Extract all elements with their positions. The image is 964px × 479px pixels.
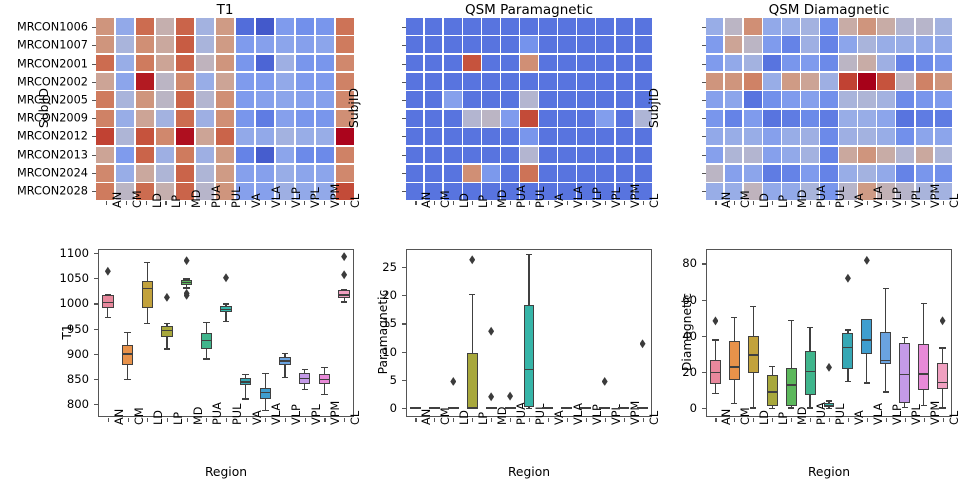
boxplot-box (729, 341, 740, 380)
heatmap-cell (616, 55, 633, 72)
x-tick-mark (715, 201, 716, 205)
x-tick-mark (434, 418, 435, 422)
boxplot-whisker-lower (225, 312, 226, 321)
y-tick-label: 1050 (49, 271, 89, 285)
y-tick-mark (702, 155, 706, 156)
boxplot-x-label: PUL (231, 404, 244, 425)
x-tick-mark (548, 418, 549, 422)
boxplot-whisker-upper (127, 332, 128, 345)
boxplot-frame-5 (706, 249, 952, 417)
boxplot-cap-lower (526, 408, 532, 409)
heatmap-cell (406, 91, 423, 108)
heatmap-cell (444, 128, 461, 145)
boxplot-whisker-upper (472, 294, 473, 353)
heatmap-cell (744, 55, 761, 72)
boxplot-median (181, 282, 192, 283)
x-tick-mark (905, 201, 906, 205)
boxplot-box (861, 319, 872, 353)
boxplot-median (260, 392, 271, 393)
heatmap-cell (96, 91, 114, 108)
heatmap-cell (935, 147, 952, 164)
heatmap-cell (176, 128, 194, 145)
y-tick-mark (402, 380, 406, 381)
heatmap-cell (782, 18, 799, 35)
heatmap-cell (635, 18, 652, 35)
boxplot-cap-upper (164, 323, 170, 324)
panel-title-2: QSM Paramagnetic (406, 2, 652, 18)
heatmap-cell (839, 91, 856, 108)
heatmap-cell (577, 73, 594, 90)
boxplot-whisker-lower (942, 389, 943, 408)
heatmap-cell (236, 165, 254, 182)
y-tick-mark (92, 100, 96, 101)
x-tick-mark (905, 418, 906, 422)
boxplot-median (880, 360, 891, 361)
x-tick-mark (586, 418, 587, 422)
boxplot-box (161, 326, 172, 337)
heatmap-cell (877, 165, 894, 182)
heatmap-cell (406, 55, 423, 72)
heatmap-cell (858, 18, 875, 35)
y-tick-mark (702, 118, 706, 119)
x-tick-mark (772, 418, 773, 422)
heatmap-col-label: PUA (815, 185, 828, 208)
heatmap-cell (635, 36, 652, 53)
x-tick-mark (510, 418, 511, 422)
heatmap-cell (196, 91, 214, 108)
heatmap-cell (316, 36, 334, 53)
heatmap-cell (916, 73, 933, 90)
heatmap-col-label: AN (111, 192, 124, 208)
boxplot-whisker-lower (245, 385, 246, 398)
heatmap-col-label: VLP (591, 187, 604, 208)
heatmap-cell (156, 18, 174, 35)
heatmap-cell (763, 73, 780, 90)
heatmap-col-label: VPL (309, 187, 322, 208)
heatmap-cell (256, 91, 274, 108)
boxplot-box (122, 345, 133, 365)
heatmap-cell (820, 18, 837, 35)
heatmap-cell (176, 147, 194, 164)
heatmap-cell (196, 73, 214, 90)
heatmap-cell (136, 147, 154, 164)
heatmap-cell (482, 18, 499, 35)
y-tick-mark (702, 173, 706, 174)
boxplot-cap-upper (939, 347, 945, 348)
heatmap-col-label: VPM (629, 184, 642, 208)
heatmap-cell (482, 36, 499, 53)
heatmap-y-axis-title-1: SubjID (37, 68, 51, 148)
boxplot-x-label: VLA (270, 403, 283, 425)
heatmap-col-label: VPM (929, 184, 942, 208)
heatmap-cell (196, 36, 214, 53)
heatmap-cell (116, 91, 134, 108)
boxplot-whisker-upper (528, 254, 529, 305)
heatmap-cell (216, 128, 234, 145)
boxplot-cap-upper (788, 320, 794, 321)
boxplot-x-label: VPM (629, 401, 642, 425)
y-tick-mark (92, 27, 96, 28)
heatmap-cell (877, 18, 894, 35)
boxplot-median (710, 372, 721, 373)
heatmap-cell (744, 128, 761, 145)
boxplot-box (842, 333, 853, 369)
y-tick-mark (92, 118, 96, 119)
heatmap-cell (896, 36, 913, 53)
heatmap-cell (616, 18, 633, 35)
heatmap-cell (858, 91, 875, 108)
boxplot-x-label: LD (458, 410, 471, 425)
heatmap-cell (406, 165, 423, 182)
heatmap-cell (276, 128, 294, 145)
y-tick-mark (702, 45, 706, 46)
heatmap-cell (520, 73, 537, 90)
boxplot-x-label: CM (739, 407, 752, 425)
heatmap-cell (539, 128, 556, 145)
boxplot-x-label: LP (777, 412, 790, 425)
boxplot-x-label: CM (439, 407, 452, 425)
heatmap-cell (858, 128, 875, 145)
boxplot-x-label: PUA (211, 402, 224, 425)
heatmap-col-label: VPM (329, 184, 342, 208)
heatmap-cell (196, 110, 214, 127)
boxplot-whisker-lower (885, 364, 886, 391)
heatmap-cell (839, 128, 856, 145)
heatmap-cell (276, 55, 294, 72)
heatmap-cell (316, 165, 334, 182)
x-tick-mark (943, 418, 944, 422)
heatmap-cell (316, 73, 334, 90)
heatmap-cell (136, 55, 154, 72)
boxplot-median (161, 330, 172, 331)
boxplot-box (142, 281, 153, 308)
heatmap-cell (116, 128, 134, 145)
boxplot-x-label: CL (648, 411, 661, 425)
boxplot-cap-lower (341, 301, 347, 302)
heatmap-cell (463, 165, 480, 182)
boxplot-x-label: CL (349, 411, 362, 425)
heatmap-cell (558, 36, 575, 53)
heatmap-cell (744, 18, 761, 35)
boxplot-cap-lower (788, 407, 794, 408)
heatmap-cell (706, 165, 723, 182)
boxplot-whisker-upper (885, 288, 886, 332)
heatmap-cell (463, 73, 480, 90)
heatmap-grid-1 (96, 18, 354, 200)
heatmap-cell (935, 91, 952, 108)
heatmap-cell (616, 110, 633, 127)
boxplot-cap-upper (469, 294, 475, 295)
heatmap-cell (196, 165, 214, 182)
boxplot-whisker-lower (324, 384, 325, 394)
x-tick-mark (146, 201, 147, 205)
boxplot-cap-lower (203, 358, 209, 359)
heatmap-cell (558, 55, 575, 72)
boxplot-flat-box (429, 407, 440, 409)
heatmap-cell (558, 128, 575, 145)
boxplot-cap-upper (807, 327, 813, 328)
heatmap-cell (858, 55, 875, 72)
boxplot-cap-lower (164, 348, 170, 349)
heatmap-cell (406, 73, 423, 90)
x-tick-mark (829, 201, 830, 205)
heatmap-row-label: MRCON2028 (0, 184, 88, 197)
heatmap-cell (501, 18, 518, 35)
x-tick-mark (624, 201, 625, 205)
heatmap-cell (596, 18, 613, 35)
heatmap-cell (782, 165, 799, 182)
boxplot-cap-upper (731, 317, 737, 318)
heatmap-cell (256, 147, 274, 164)
y-tick-label: 1100 (49, 246, 89, 260)
y-tick-mark (402, 82, 406, 83)
boxplot-cap-lower (864, 382, 870, 383)
x-tick-mark (205, 201, 206, 205)
heatmap-cell (858, 73, 875, 90)
heatmap-cell (216, 110, 234, 127)
heatmap-col-label: CL (349, 194, 362, 208)
heatmap-cell (196, 128, 214, 145)
heatmap-cell (156, 147, 174, 164)
x-tick-mark (791, 418, 792, 422)
boxplot-x-label: VLA (872, 403, 885, 425)
heatmap-cell (501, 128, 518, 145)
x-tick-mark (848, 418, 849, 422)
x-tick-mark (167, 418, 168, 422)
heatmap-col-label: VLA (270, 186, 283, 208)
x-tick-mark (715, 418, 716, 422)
boxplot-cap-lower (939, 407, 945, 408)
heatmap-cell (801, 128, 818, 145)
boxplot-whisker-upper (753, 306, 754, 336)
heatmap-cell (820, 73, 837, 90)
heatmap-cell (256, 36, 274, 53)
boxplot-median (748, 354, 759, 355)
heatmap-cell (136, 73, 154, 90)
heatmap-cell (820, 147, 837, 164)
heatmap-cell (520, 18, 537, 35)
x-tick-mark (924, 418, 925, 422)
boxplot-whisker-lower (809, 395, 810, 408)
heatmap-cell (482, 110, 499, 127)
heatmap-cell (276, 165, 294, 182)
boxplot-x-label: LD (152, 410, 165, 425)
y-tick-mark (402, 323, 406, 324)
x-tick-mark (491, 201, 492, 205)
heatmap-cell (316, 55, 334, 72)
heatmap-cell (916, 55, 933, 72)
heatmap-cell (501, 110, 518, 127)
heatmap-cell (296, 110, 314, 127)
heatmap-cell (558, 18, 575, 35)
boxplot-cap-upper (105, 294, 111, 295)
heatmap-cell (725, 147, 742, 164)
heatmap-cell (116, 18, 134, 35)
heatmap-cell (706, 147, 723, 164)
heatmap-cell (256, 18, 274, 35)
boxplot-cap-upper (223, 303, 229, 304)
heatmap-cell (276, 73, 294, 90)
x-tick-mark (265, 418, 266, 422)
boxplot-whisker-upper (923, 303, 924, 344)
boxplot-box (260, 388, 271, 400)
heatmap-cell (520, 36, 537, 53)
y-tick-mark (402, 118, 406, 119)
x-tick-mark (128, 418, 129, 422)
heatmap-cell (156, 36, 174, 53)
heatmap-cell (801, 110, 818, 127)
y-tick-mark (92, 45, 96, 46)
heatmap-cell (916, 110, 933, 127)
heatmap-cell (763, 110, 780, 127)
x-tick-mark (848, 201, 849, 205)
heatmap-cell (425, 128, 442, 145)
x-tick-mark (810, 201, 811, 205)
boxplot-cap-upper (883, 288, 889, 289)
y-tick-mark (94, 278, 98, 279)
heatmap-cell (839, 110, 856, 127)
boxplot-cap-lower (921, 405, 927, 406)
x-tick-mark (624, 418, 625, 422)
heatmap-cell (539, 165, 556, 182)
heatmap-cell (763, 128, 780, 145)
heatmap-cell (425, 91, 442, 108)
x-tick-mark (548, 201, 549, 205)
heatmap-cell (236, 36, 254, 53)
heatmap-cell (156, 128, 174, 145)
heatmap-cell (216, 18, 234, 35)
heatmap-col-label: CM (131, 190, 144, 208)
boxplot-median (767, 391, 778, 392)
boxplot-flat-box (448, 407, 459, 409)
heatmap-col-label: PUA (210, 185, 223, 208)
boxplot-box (937, 363, 948, 389)
heatmap-cell (116, 147, 134, 164)
heatmap-cell (820, 55, 837, 72)
y-tick-mark (402, 173, 406, 174)
heatmap-cell (276, 36, 294, 53)
boxplot-x-label: VPM (929, 401, 942, 425)
heatmap-cell (236, 18, 254, 35)
x-tick-mark (344, 201, 345, 205)
boxplot-median (899, 374, 910, 375)
heatmap-y-axis-title-2: SubjID (347, 68, 361, 148)
heatmap-col-label: VA (853, 193, 866, 208)
boxplot-x-label: LP (172, 412, 185, 425)
boxplot-cap-lower (902, 407, 908, 408)
boxplot-median (842, 347, 853, 348)
heatmap-cell (820, 128, 837, 145)
panel-title-3: QSM Diamagnetic (706, 2, 952, 18)
y-tick-mark (702, 27, 706, 28)
heatmap-cell (216, 55, 234, 72)
heatmap-cell (801, 18, 818, 35)
y-tick-mark (92, 191, 96, 192)
heatmap-cell (916, 18, 933, 35)
heatmap-cell (296, 55, 314, 72)
heatmap-cell (96, 110, 114, 127)
heatmap-cell (916, 91, 933, 108)
heatmap-cell (256, 110, 274, 127)
heatmap-cell (463, 55, 480, 72)
heatmap-cell (444, 110, 461, 127)
heatmap-cell (596, 55, 613, 72)
boxplot-cap-upper (526, 254, 532, 255)
boxplot-cap-lower (807, 407, 813, 408)
heatmap-cell (520, 55, 537, 72)
y-tick-mark (94, 354, 98, 355)
heatmap-cell (463, 36, 480, 53)
boxplot-x-label: MD (192, 407, 205, 425)
x-tick-mark (605, 201, 606, 205)
x-tick-mark (285, 201, 286, 205)
boxplot-cap-upper (242, 374, 248, 375)
heatmap-cell (616, 165, 633, 182)
heatmap-cell (236, 73, 254, 90)
y-tick-mark (94, 303, 98, 304)
boxplot-cap-lower (845, 381, 851, 382)
boxplot-cap-upper (183, 278, 189, 279)
boxplot-cap-upper (921, 303, 927, 304)
heatmap-cell (616, 36, 633, 53)
y-tick-label: 25 (367, 260, 397, 274)
heatmap-cell (296, 91, 314, 108)
heatmap-cell (782, 73, 799, 90)
y-tick-mark (92, 173, 96, 174)
x-tick-mark (434, 201, 435, 205)
heatmap-cell (96, 128, 114, 145)
boxplot-x-label: CL (948, 411, 961, 425)
heatmap-cell (801, 73, 818, 90)
y-tick-mark (402, 45, 406, 46)
boxplot-cap-upper (203, 322, 209, 323)
heatmap-cell (596, 110, 613, 127)
heatmap-cell (616, 73, 633, 90)
heatmap-cell (136, 128, 154, 145)
heatmap-cell (725, 36, 742, 53)
boxplot-box (805, 351, 816, 395)
heatmap-cell (116, 165, 134, 182)
heatmap-cell (520, 147, 537, 164)
heatmap-cell (877, 55, 894, 72)
x-tick-mark (791, 201, 792, 205)
heatmap-col-label: MD (796, 190, 809, 208)
boxplot-median (122, 353, 133, 354)
heatmap-cell (316, 91, 334, 108)
boxplot-whisker-lower (265, 399, 266, 410)
x-tick-mark (867, 418, 868, 422)
heatmap-cell (463, 18, 480, 35)
heatmap-cell (296, 128, 314, 145)
boxplot-median (861, 339, 872, 340)
x-tick-mark (924, 201, 925, 205)
boxplot-whisker-upper (206, 322, 207, 333)
heatmap-cell (577, 91, 594, 108)
boxplot-x-label: CM (133, 407, 146, 425)
boxplot-whisker-lower (127, 365, 128, 379)
boxplot-median (319, 379, 330, 380)
boxplot-whisker-lower (923, 390, 924, 406)
heatmap-cell (577, 55, 594, 72)
heatmap-cell (116, 73, 134, 90)
heatmap-cell (539, 110, 556, 127)
x-tick-mark (472, 201, 473, 205)
boxplot-box (786, 368, 797, 406)
x-tick-mark (265, 201, 266, 205)
heatmap-cell (463, 91, 480, 108)
heatmap-cell (236, 147, 254, 164)
heatmap-cell (501, 165, 518, 182)
